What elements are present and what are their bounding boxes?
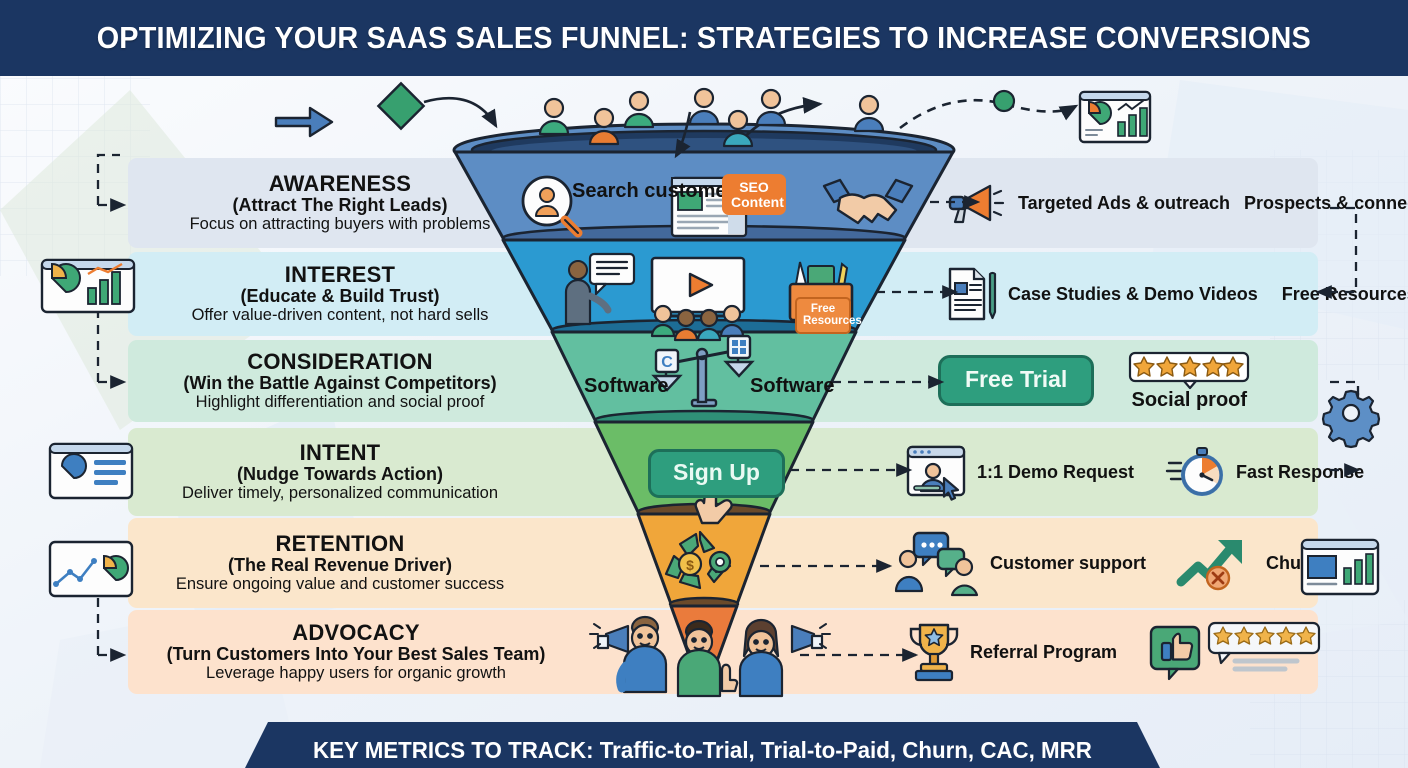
bar-chart-window-icon: [1300, 538, 1380, 596]
line-pie-chart-icon: [48, 540, 134, 598]
funnel-label-search-customers: Search customers: [572, 180, 745, 202]
footer-text: KEY METRICS TO TRACK: Traffic-to-Trial, …: [313, 737, 1092, 764]
footer-label: KEY METRICS TO TRACK:: [313, 737, 594, 763]
page-header: OPTIMIZING YOUR SAAS SALES FUNNEL: STRAT…: [0, 0, 1408, 76]
funnel-labels: Search customers SEO Content Free Resour…: [0, 0, 1408, 768]
analytics-window-icon: [1078, 90, 1152, 144]
page-title: OPTIMIZING YOUR SAAS SALES FUNNEL: STRAT…: [97, 20, 1311, 56]
pie-bar-chart-icon: [40, 258, 136, 314]
footer-banner: KEY METRICS TO TRACK: Traffic-to-Trial, …: [240, 722, 1165, 768]
gear-icon[interactable]: [1326, 388, 1376, 438]
sign-up-button[interactable]: Sign Up: [648, 449, 785, 498]
funnel-label-software-right: Software: [750, 375, 834, 397]
funnel-label-software-left: Software: [584, 375, 668, 397]
footer-metrics: Traffic-to-Trial, Trial-to-Paid, Churn, …: [600, 737, 1092, 763]
seo-content-badge: SEO Content: [722, 174, 786, 215]
card-list-icon: [48, 442, 134, 500]
free-resources-badge: Free Resources: [795, 297, 851, 334]
